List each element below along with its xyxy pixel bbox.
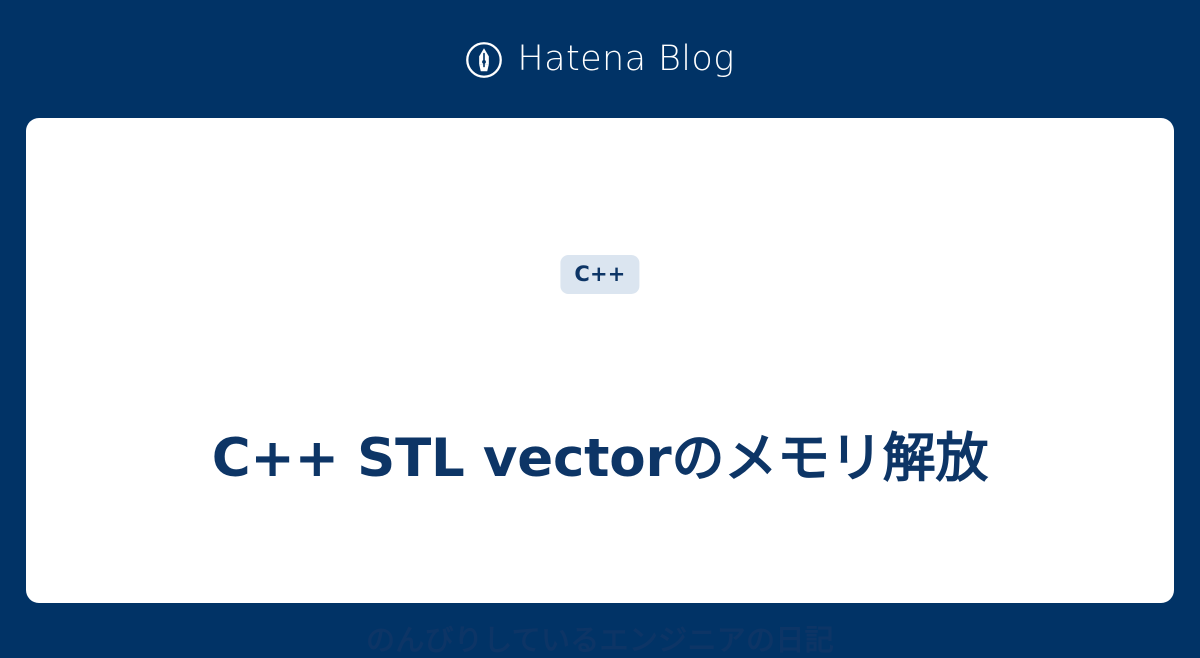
ogp-card-canvas: Hatena Blog C++ C++ STL vectorのメモリ解放 のんび…	[0, 0, 1200, 630]
brand-name: Hatena Blog	[517, 42, 734, 77]
category-badge[interactable]: C++	[560, 255, 639, 294]
category-badge-label: C++	[574, 264, 625, 285]
hatena-pen-nib-logo-icon	[465, 41, 503, 79]
blog-name: のんびりしているエンジニアの日記	[70, 623, 1130, 658]
entry-title: C++ STL vectorのメモリ解放	[70, 428, 1130, 491]
brand-header: Hatena Blog	[0, 0, 1200, 118]
entry-card: C++ C++ STL vectorのメモリ解放 のんびりしているエンジニアの日…	[26, 118, 1174, 603]
